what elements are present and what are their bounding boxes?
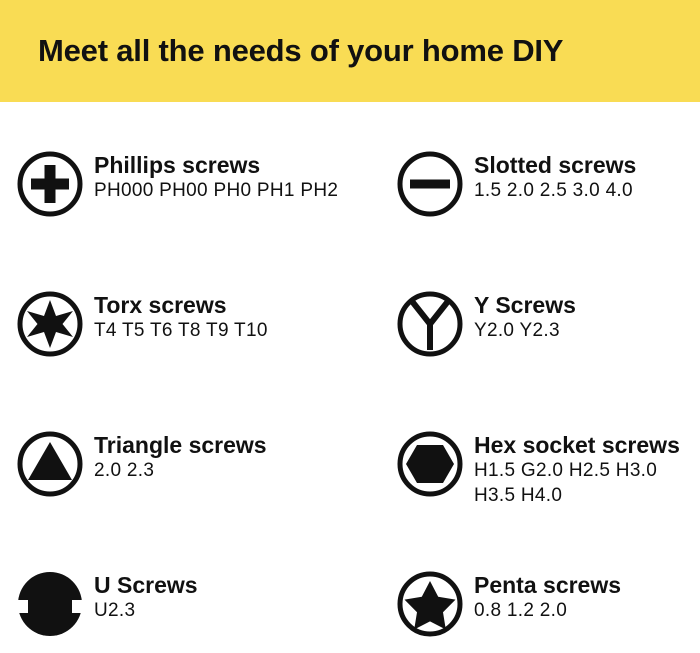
screw-type-text-block: Torx screws T4 T5 T6 T8 T9 T10 xyxy=(94,290,268,343)
screw-type-title: Slotted screws xyxy=(474,152,636,178)
screw-type-title: Hex socket screws xyxy=(474,432,680,458)
penta-five-point-star-icon xyxy=(396,570,464,638)
screw-type-title: Torx screws xyxy=(94,292,268,318)
screw-type-sizes-line1: 0.8 1.2 2.0 xyxy=(474,598,621,623)
phillips-cross-icon xyxy=(16,150,84,218)
screw-type-text-block: Triangle screws 2.0 2.3 xyxy=(94,430,267,483)
screw-type-sizes-line1: Y2.0 Y2.3 xyxy=(474,318,576,343)
screw-type-text-block: Hex socket screws H1.5 G2.0 H2.5 H3.0 H3… xyxy=(474,430,680,508)
screw-type-sizes-line1: H1.5 G2.0 H2.5 H3.0 xyxy=(474,458,680,483)
y-tripoint-icon xyxy=(396,290,464,358)
screw-type-item-u-screws: U Screws U2.3 xyxy=(16,570,198,638)
screw-type-text-block: Penta screws 0.8 1.2 2.0 xyxy=(474,570,621,623)
screw-type-item-slotted: Slotted screws 1.5 2.0 2.5 3.0 4.0 xyxy=(396,150,636,218)
screw-type-sizes-line1: T4 T5 T6 T8 T9 T10 xyxy=(94,318,268,343)
screw-type-sizes-line1: PH000 PH00 PH0 PH1 PH2 xyxy=(94,178,338,203)
screw-type-item-triangle: Triangle screws 2.0 2.3 xyxy=(16,430,267,498)
screw-type-item-penta: Penta screws 0.8 1.2 2.0 xyxy=(396,570,621,638)
screw-type-text-block: Y Screws Y2.0 Y2.3 xyxy=(474,290,576,343)
triangle-icon xyxy=(16,430,84,498)
screw-type-item-torx: Torx screws T4 T5 T6 T8 T9 T10 xyxy=(16,290,268,358)
hexagon-icon xyxy=(396,430,464,498)
screw-type-text-block: U Screws U2.3 xyxy=(94,570,198,623)
header-banner: Meet all the needs of your home DIY xyxy=(0,0,700,102)
screw-type-title: Y Screws xyxy=(474,292,576,318)
screw-type-text-block: Phillips screws PH000 PH00 PH0 PH1 PH2 xyxy=(94,150,338,203)
slotted-flat-icon xyxy=(396,150,464,218)
screw-type-grid: Phillips screws PH000 PH00 PH0 PH1 PH2 S… xyxy=(0,102,700,653)
screw-type-title: Penta screws xyxy=(474,572,621,598)
screw-type-sizes-line1: 2.0 2.3 xyxy=(94,458,267,483)
screw-type-title: Triangle screws xyxy=(94,432,267,458)
screw-type-sizes-line1: 1.5 2.0 2.5 3.0 4.0 xyxy=(474,178,636,203)
screw-type-item-hex-socket: Hex socket screws H1.5 G2.0 H2.5 H3.0 H3… xyxy=(396,430,680,508)
u-drive-notched-disc-icon xyxy=(16,570,84,638)
screw-type-title: Phillips screws xyxy=(94,152,338,178)
screw-type-title: U Screws xyxy=(94,572,198,598)
screw-type-item-y-screws: Y Screws Y2.0 Y2.3 xyxy=(396,290,576,358)
torx-six-point-star-icon xyxy=(16,290,84,358)
screw-type-item-phillips: Phillips screws PH000 PH00 PH0 PH1 PH2 xyxy=(16,150,338,218)
product-feature-card: Meet all the needs of your home DIY Phil… xyxy=(0,0,700,653)
screw-type-text-block: Slotted screws 1.5 2.0 2.5 3.0 4.0 xyxy=(474,150,636,203)
page-title: Meet all the needs of your home DIY xyxy=(38,33,563,69)
screw-type-sizes-line1: U2.3 xyxy=(94,598,198,623)
screw-type-sizes-line2: H3.5 H4.0 xyxy=(474,483,680,508)
